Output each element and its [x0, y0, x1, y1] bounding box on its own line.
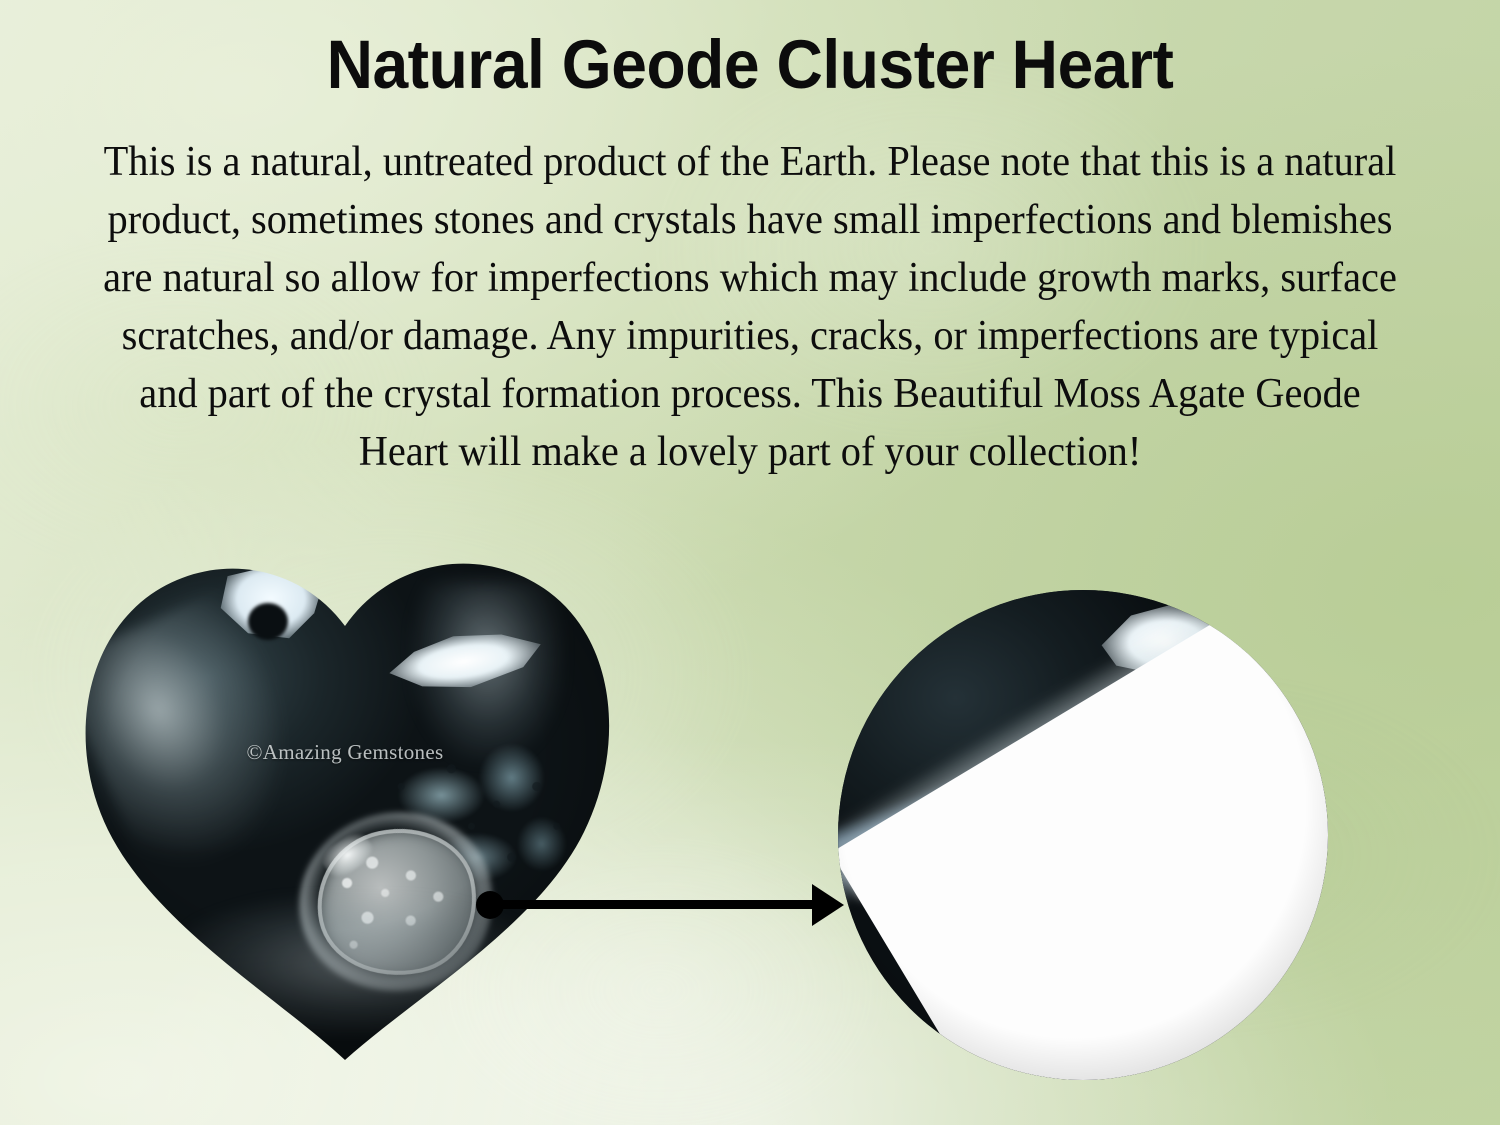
stone-edge-shading	[60, 540, 630, 1065]
product-description: This is a natural, untreated product of …	[95, 133, 1406, 481]
watermark: ©Amazing Gemstones	[60, 740, 630, 765]
heart-silhouette: ©Amazing Gemstones	[60, 540, 630, 1065]
detail-vignette	[838, 590, 1328, 1080]
detail-inset-circle	[838, 590, 1328, 1080]
page-title: Natural Geode Cluster Heart	[53, 28, 1448, 101]
callout-line	[498, 900, 820, 909]
product-image-canvas: Natural Geode Cluster Heart This is a na…	[0, 0, 1500, 1125]
heart-photo: ©Amazing Gemstones	[60, 540, 630, 1065]
